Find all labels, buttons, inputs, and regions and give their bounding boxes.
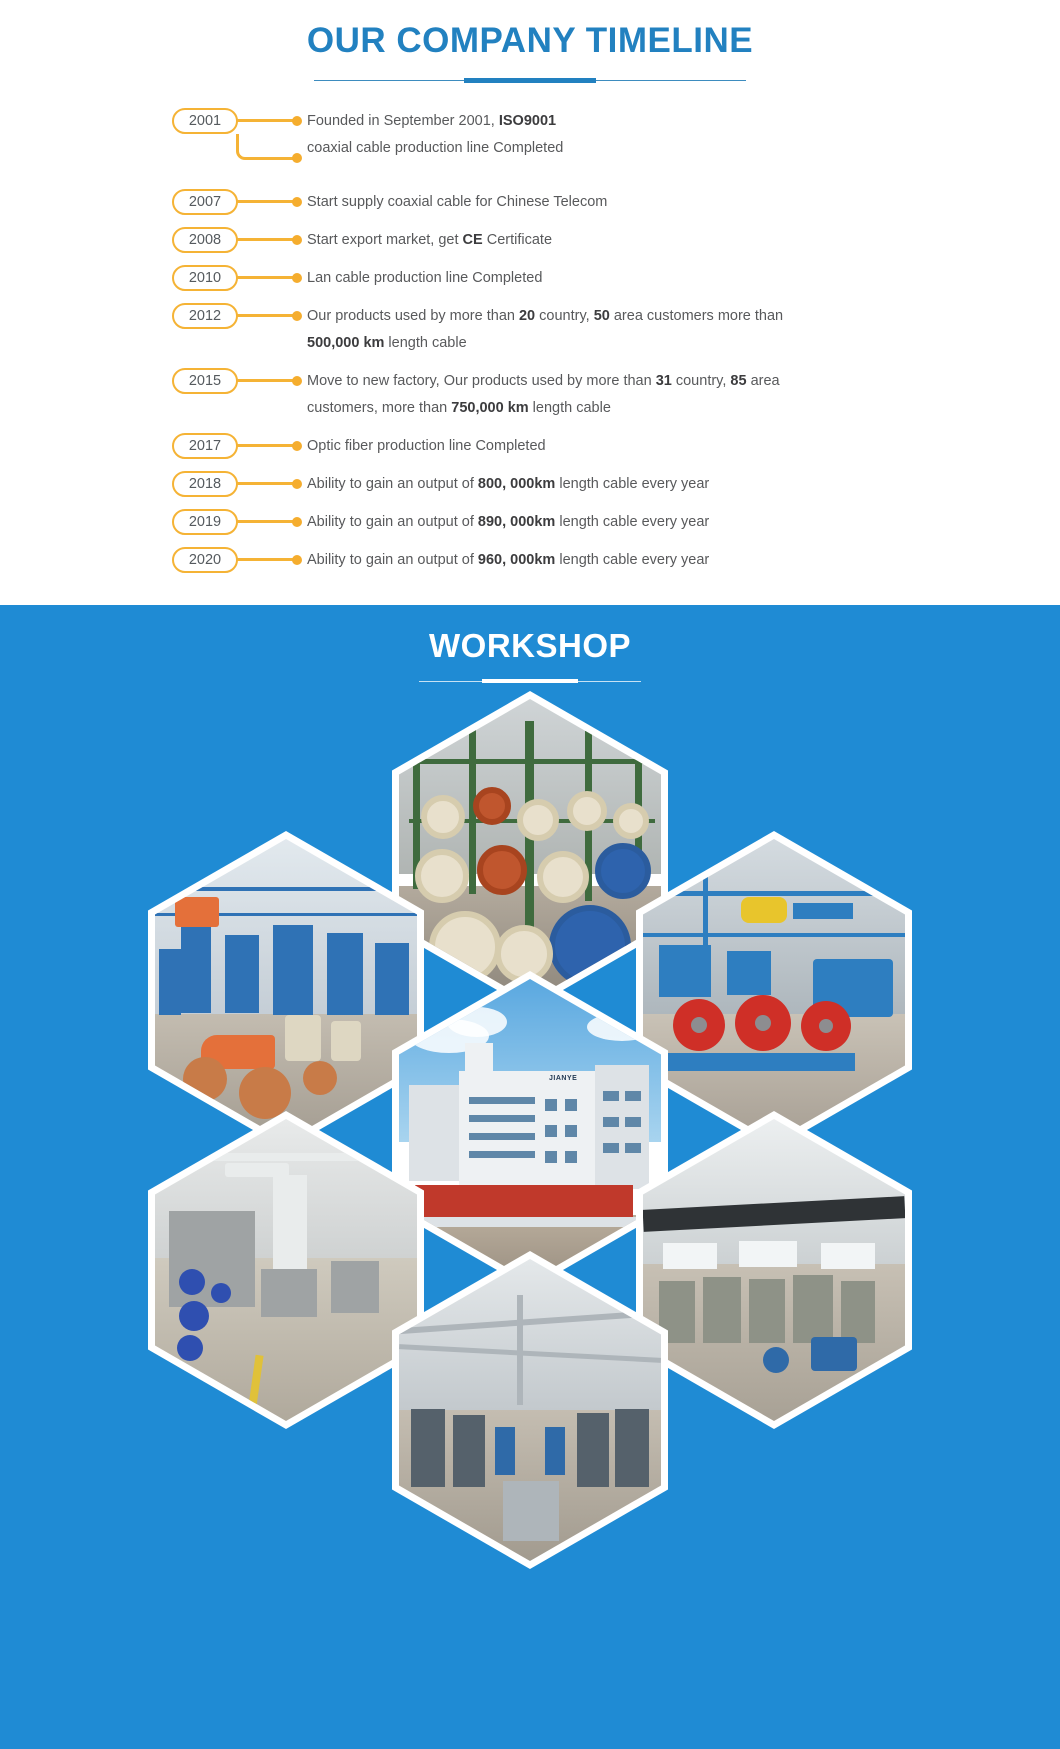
year-badge: 2001 bbox=[172, 108, 238, 134]
workshop-photo bbox=[643, 839, 905, 1141]
timeline-row: 2007 Start supply coaxial cable for Chin… bbox=[172, 189, 1060, 216]
timeline-text: Our products used by more than 20 countr… bbox=[307, 303, 1060, 357]
timeline-connector-group: 2018 bbox=[172, 471, 307, 498]
timeline-list: 2001 Founded in September 2001, ISO9001 … bbox=[0, 108, 1060, 574]
timeline-text-pre: Optic fiber production line Completed bbox=[307, 438, 546, 454]
timeline-text-post: length cable every year bbox=[555, 476, 709, 492]
timeline-text-mid: country, bbox=[535, 308, 594, 324]
timeline-row: 2018 Ability to gain an output of 800, 0… bbox=[172, 471, 1060, 498]
workshop-title: WORKSHOP bbox=[0, 605, 1060, 665]
connector-dot bbox=[292, 311, 302, 321]
workshop-tile-stranding-machine[interactable] bbox=[636, 831, 912, 1149]
timeline-row: 2012 Our products used by more than 20 c… bbox=[172, 303, 1060, 357]
workshop-hexagon-grid: JIANYE bbox=[0, 691, 1060, 1721]
building-logo: JIANYE bbox=[549, 1075, 577, 1082]
timeline-text-bold: 800, 000km bbox=[478, 476, 555, 492]
workshop-section: WORKSHOP bbox=[0, 605, 1060, 1749]
timeline-connector-group: 2017 bbox=[172, 433, 307, 460]
connector-line bbox=[236, 558, 298, 561]
page-title: OUR COMPANY TIMELINE bbox=[0, 22, 1060, 61]
workshop-tile-office-building[interactable]: JIANYE bbox=[392, 971, 668, 1289]
timeline-text-line2-bold: 500,000 km bbox=[307, 335, 384, 351]
timeline-text-bold2: 85 bbox=[730, 373, 746, 389]
connector-line bbox=[236, 200, 298, 203]
connector-dot bbox=[292, 116, 302, 126]
connector-line bbox=[236, 444, 298, 447]
timeline-text-line2-pre: customers, more than bbox=[307, 400, 451, 416]
timeline-text-post: length cable every year bbox=[555, 552, 709, 568]
underline-thick bbox=[482, 679, 578, 683]
connector-line bbox=[236, 314, 298, 317]
timeline-header: OUR COMPANY TIMELINE bbox=[0, 0, 1060, 84]
timeline-row: 2017 Optic fiber production line Complet… bbox=[172, 433, 1060, 460]
timeline-text-pre: Our products used by more than bbox=[307, 308, 519, 324]
workshop-photo: JIANYE bbox=[399, 979, 661, 1281]
year-badge: 2018 bbox=[172, 471, 238, 497]
connector-dot bbox=[292, 555, 302, 565]
connector-line bbox=[236, 238, 298, 241]
timeline-connector-group: 2008 bbox=[172, 227, 307, 254]
timeline-row: 2020 Ability to gain an output of 960, 0… bbox=[172, 547, 1060, 574]
year-badge: 2007 bbox=[172, 189, 238, 215]
timeline-text-bold: 890, 000km bbox=[478, 514, 555, 530]
timeline-text-bold: CE bbox=[463, 232, 483, 248]
year-badge: 2019 bbox=[172, 509, 238, 535]
timeline-text-pre: Move to new factory, Our products used b… bbox=[307, 373, 656, 389]
workshop-tile-cable-spool[interactable] bbox=[392, 691, 668, 1009]
timeline-text-bold: 20 bbox=[519, 308, 535, 324]
timeline-text-line2: coaxial cable production line Completed bbox=[307, 135, 930, 162]
workshop-photo bbox=[155, 1119, 417, 1421]
timeline-text-post: area customers more than bbox=[610, 308, 783, 324]
workshop-tile-extrusion-line[interactable] bbox=[148, 831, 424, 1149]
timeline-row: 2015 Move to new factory, Our products u… bbox=[172, 368, 1060, 422]
year-badge: 2017 bbox=[172, 433, 238, 459]
timeline-text-pre: Ability to gain an output of bbox=[307, 514, 478, 530]
timeline-text-pre: Lan cable production line Completed bbox=[307, 270, 542, 286]
timeline-text: Ability to gain an output of 800, 000km … bbox=[307, 471, 1060, 498]
timeline-text-post: area bbox=[747, 373, 780, 389]
workshop-tile-production-hall[interactable] bbox=[392, 1251, 668, 1569]
timeline-text-line2-post: length cable bbox=[529, 400, 611, 416]
timeline-text-post: Certificate bbox=[483, 232, 552, 248]
timeline-text: Lan cable production line Completed bbox=[307, 265, 1060, 292]
connector-line bbox=[236, 520, 298, 523]
timeline-row: 2019 Ability to gain an output of 890, 0… bbox=[172, 509, 1060, 536]
timeline-row: 2001 Founded in September 2001, ISO9001 … bbox=[172, 108, 1060, 178]
workshop-photo bbox=[399, 1259, 661, 1561]
timeline-text-bold: 31 bbox=[656, 373, 672, 389]
title-underline bbox=[314, 77, 746, 84]
timeline-text: Start export market, get CE Certificate bbox=[307, 227, 1060, 254]
timeline-text-line2: 500,000 km length cable bbox=[307, 330, 930, 357]
timeline-text: Ability to gain an output of 890, 000km … bbox=[307, 509, 1060, 536]
year-badge: 2015 bbox=[172, 368, 238, 394]
year-badge: 2008 bbox=[172, 227, 238, 253]
connector-dot bbox=[292, 273, 302, 283]
timeline-text: Start supply coaxial cable for Chinese T… bbox=[307, 189, 1060, 216]
timeline-section: OUR COMPANY TIMELINE 2001 Founded in Sep… bbox=[0, 0, 1060, 605]
timeline-connector-group: 2012 bbox=[172, 303, 307, 330]
connector-dot bbox=[292, 479, 302, 489]
workshop-tile-machine-shop[interactable] bbox=[636, 1111, 912, 1429]
connector-line bbox=[236, 119, 298, 122]
timeline-connector-group: 2007 bbox=[172, 189, 307, 216]
connector-line-secondary bbox=[250, 157, 298, 160]
underline-thick bbox=[464, 78, 596, 83]
timeline-text-pre: Start supply coaxial cable for Chinese T… bbox=[307, 194, 607, 210]
timeline-connector-group: 2010 bbox=[172, 265, 307, 292]
timeline-connector-group: 2019 bbox=[172, 509, 307, 536]
workshop-photo bbox=[399, 699, 661, 1001]
connector-line bbox=[236, 379, 298, 382]
timeline-text-bold2: 50 bbox=[594, 308, 610, 324]
timeline-text-line2: customers, more than 750,000 km length c… bbox=[307, 395, 930, 422]
timeline-text: Move to new factory, Our products used b… bbox=[307, 368, 1060, 422]
connector-dot bbox=[292, 197, 302, 207]
timeline-text-pre: Start export market, get bbox=[307, 232, 463, 248]
connector-dot bbox=[292, 376, 302, 386]
timeline-row: 2010 Lan cable production line Completed bbox=[172, 265, 1060, 292]
year-badge: 2020 bbox=[172, 547, 238, 573]
timeline-text-pre: Ability to gain an output of bbox=[307, 476, 478, 492]
workshop-photo bbox=[643, 1119, 905, 1421]
connector-line bbox=[236, 482, 298, 485]
timeline-text-bold: 960, 000km bbox=[478, 552, 555, 568]
timeline-text-line2-bold: 750,000 km bbox=[451, 400, 528, 416]
timeline-text: Ability to gain an output of 960, 000km … bbox=[307, 547, 1060, 574]
year-badge: 2010 bbox=[172, 265, 238, 291]
timeline-text-pre: Founded in September 2001, bbox=[307, 113, 499, 129]
connector-dot bbox=[292, 517, 302, 527]
timeline-connector-group: 2001 bbox=[172, 108, 307, 178]
workshop-title-underline bbox=[419, 678, 641, 685]
timeline-connector-group: 2020 bbox=[172, 547, 307, 574]
connector-dot bbox=[292, 441, 302, 451]
workshop-tile-fiber-drawing[interactable] bbox=[148, 1111, 424, 1429]
timeline-text-pre: Ability to gain an output of bbox=[307, 552, 478, 568]
timeline-text-mid: country, bbox=[672, 373, 731, 389]
connector-line bbox=[236, 276, 298, 279]
timeline-text: Optic fiber production line Completed bbox=[307, 433, 1060, 460]
connector-dot bbox=[292, 235, 302, 245]
connector-dot-secondary bbox=[292, 153, 302, 163]
timeline-text-line2-post: length cable bbox=[384, 335, 466, 351]
timeline-text-post: length cable every year bbox=[555, 514, 709, 530]
timeline-row: 2008 Start export market, get CE Certifi… bbox=[172, 227, 1060, 254]
workshop-photo bbox=[155, 839, 417, 1141]
year-badge: 2012 bbox=[172, 303, 238, 329]
timeline-text: Founded in September 2001, ISO9001 coaxi… bbox=[307, 108, 1060, 162]
timeline-connector-group: 2015 bbox=[172, 368, 307, 395]
timeline-text-bold: ISO9001 bbox=[499, 113, 556, 129]
